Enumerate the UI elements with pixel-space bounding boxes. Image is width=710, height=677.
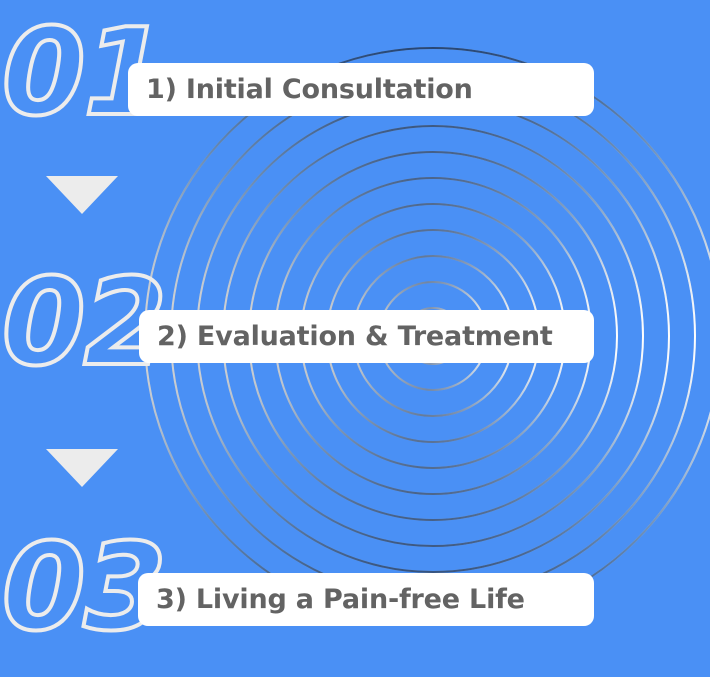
step-label-text-3: 3) Living a Pain-free Life	[156, 584, 525, 615]
step-label-text-2: 2) Evaluation & Treatment	[157, 321, 553, 352]
step-label-pill-2[interactable]: 2) Evaluation & Treatment	[139, 310, 594, 363]
step-label-pill-1[interactable]: 1) Initial Consultation	[128, 63, 594, 116]
step-label-pill-3[interactable]: 3) Living a Pain-free Life	[138, 573, 594, 626]
triangle-down-icon-2	[46, 449, 118, 487]
step-label-text-1: 1) Initial Consultation	[146, 74, 473, 105]
triangle-down-icon-1	[46, 176, 118, 214]
infographic-canvas: 01 1) Initial Consultation 02 2) Evaluat…	[0, 0, 710, 677]
